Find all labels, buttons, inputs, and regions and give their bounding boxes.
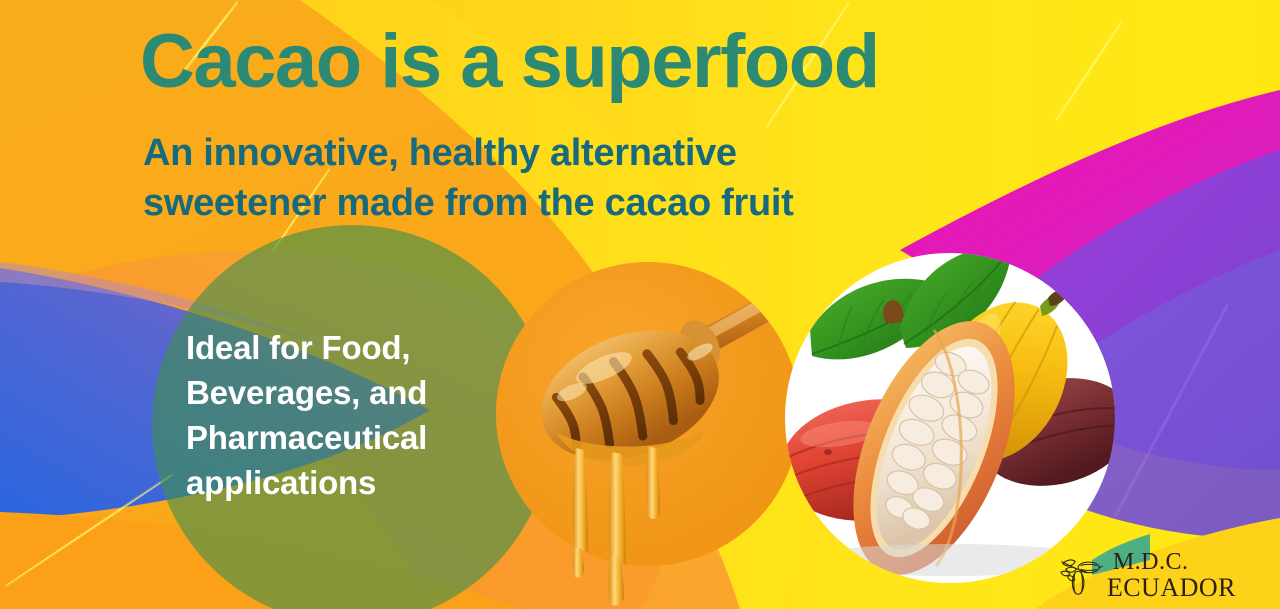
logo-wordmark: M.D.C. ECUADOR xyxy=(1107,551,1236,600)
brand-logo: M.D.C. ECUADOR xyxy=(1057,551,1236,601)
cacao-leaf xyxy=(900,247,1012,348)
honey-drip xyxy=(609,556,625,606)
magenta-wave xyxy=(900,90,1280,330)
feature-line: Ideal for Food, xyxy=(186,326,516,371)
feature-line: Pharmaceutical xyxy=(186,416,516,461)
logo-line-2: ECUADOR xyxy=(1107,575,1236,600)
cacao-leaf xyxy=(810,279,948,360)
cacao-pod-split xyxy=(821,298,1047,597)
cacao-pod-red xyxy=(773,388,972,532)
purple-wave xyxy=(950,150,1280,470)
violet-wave xyxy=(960,250,1280,540)
cacao-pod-yellow xyxy=(906,279,1094,486)
cacao-pod-branch-icon xyxy=(1057,553,1105,601)
promo-banner: Cacao is a superfood An innovative, heal… xyxy=(0,0,1280,609)
subtitle: An innovative, healthy alternative sweet… xyxy=(143,128,794,228)
logo-line-1: M.D.C. xyxy=(1107,551,1236,575)
cacao-pod-dark xyxy=(968,363,1145,502)
subtitle-line: sweetener made from the cacao fruit xyxy=(143,178,794,228)
subtitle-line: An innovative, healthy alternative xyxy=(143,128,794,178)
honey-drip xyxy=(573,548,585,578)
feature-line: Beverages, and xyxy=(186,371,516,416)
feature-callout: Ideal for Food, Beverages, and Pharmaceu… xyxy=(186,326,516,506)
feature-line: applications xyxy=(186,461,516,506)
page-title: Cacao is a superfood xyxy=(140,24,879,100)
